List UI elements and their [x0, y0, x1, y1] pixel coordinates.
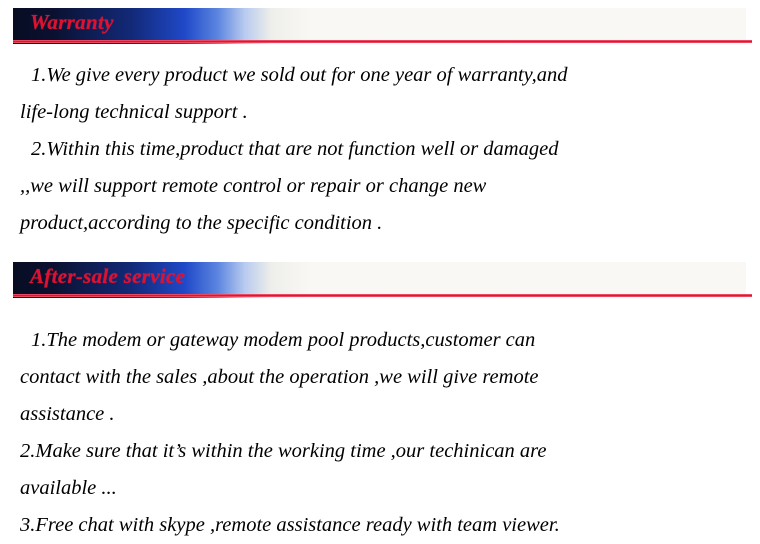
text-line: assistance . — [20, 396, 746, 433]
section-body-aftersale: 1.The modem or gateway modem pool produc… — [20, 322, 746, 544]
text-line: 2.Make sure that it’s within the working… — [20, 433, 746, 470]
section-title-aftersale: After-sale service — [30, 264, 185, 289]
text-line: product,according to the specific condit… — [20, 205, 746, 242]
text-line: 2.Within this time,product that are not … — [20, 131, 746, 168]
text-line: 1.We give every product we sold out for … — [20, 57, 746, 94]
section-rule-aftersale — [13, 294, 752, 297]
text-line: 1.The modem or gateway modem pool produc… — [20, 322, 746, 359]
section-title-warranty: Warranty — [30, 10, 114, 35]
section-body-warranty: 1.We give every product we sold out for … — [20, 57, 746, 242]
section-banner-warranty: Warranty — [13, 8, 746, 44]
document-page: Warranty 1.We give every product we sold… — [0, 0, 760, 543]
text-line: ,,we will support remote control or repa… — [20, 168, 746, 205]
text-line: contact with the sales ,about the operat… — [20, 359, 746, 396]
section-banner-aftersale: After-sale service — [13, 262, 746, 298]
text-line: life-long technical support . — [20, 94, 746, 131]
text-line: 3.Free chat with skype ,remote assistanc… — [20, 507, 746, 544]
section-rule-warranty — [13, 40, 752, 43]
text-line: available ... — [20, 470, 746, 507]
